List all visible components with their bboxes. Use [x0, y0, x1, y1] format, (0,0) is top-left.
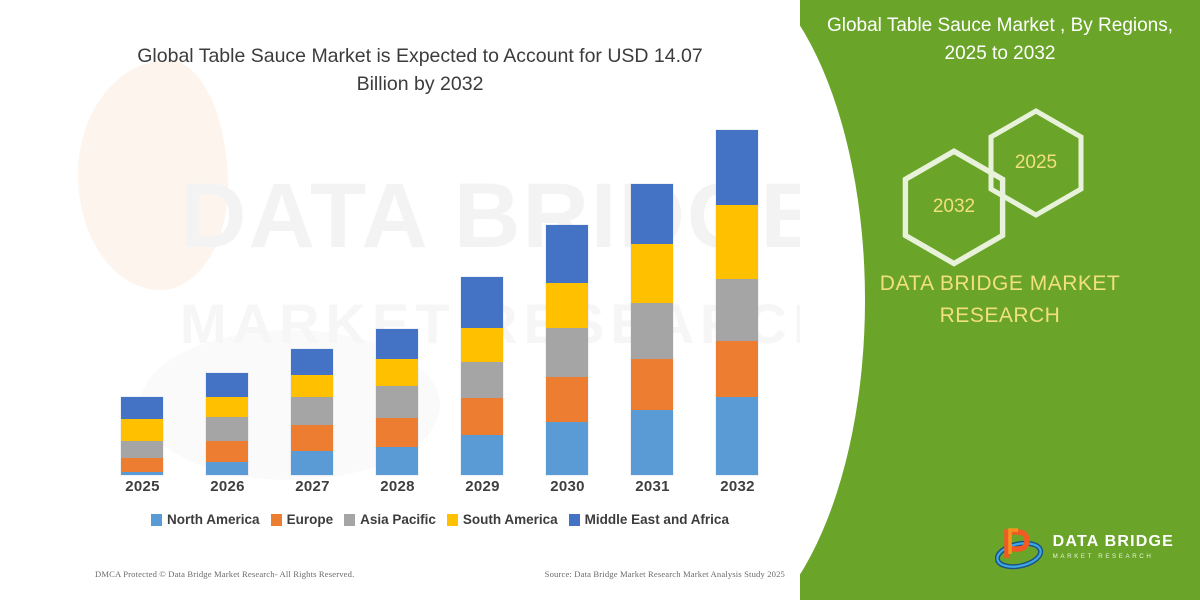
bar-segment[interactable]	[206, 397, 248, 416]
logo-subtitle: MARKET RESEARCH	[1053, 554, 1174, 560]
bar-segment[interactable]	[631, 359, 673, 411]
stacked-bar-2032[interactable]	[716, 130, 758, 475]
bar-segment[interactable]	[631, 184, 673, 244]
footer: DMCA Protected © Data Bridge Market Rese…	[95, 569, 785, 579]
stacked-bar-2025[interactable]	[121, 397, 163, 475]
bar-segment[interactable]	[121, 397, 163, 419]
legend-swatch-icon	[569, 514, 580, 526]
bar-segment[interactable]	[546, 283, 588, 328]
x-axis-tick-2032: 2032	[700, 478, 775, 495]
legend-swatch-icon	[151, 514, 162, 526]
x-axis-tick-2029: 2029	[445, 478, 520, 495]
bar-segment[interactable]	[716, 341, 758, 397]
bar-segment[interactable]	[121, 458, 163, 472]
stacked-bar-2027[interactable]	[291, 349, 333, 475]
bar-segment[interactable]	[716, 279, 758, 342]
legend-label: Europe	[287, 512, 334, 527]
hexagon-2025: 2025	[986, 108, 1086, 218]
legend-item[interactable]: North America	[151, 512, 260, 527]
x-axis-tick-2028: 2028	[360, 478, 435, 495]
bar-segment[interactable]	[546, 422, 588, 475]
bar-slot	[700, 130, 775, 475]
bar-segment[interactable]	[121, 419, 163, 441]
legend-swatch-icon	[344, 514, 355, 526]
logo-title: DATA BRIDGE	[1053, 534, 1174, 550]
bar-slot	[445, 130, 520, 475]
hexagon-2032-label: 2032	[933, 196, 975, 218]
hexagon-2025-label: 2025	[1015, 152, 1057, 174]
legend-item[interactable]: Middle East and Africa	[569, 512, 729, 527]
panel-brand-text: DATA BRIDGE MARKET RESEARCH	[820, 268, 1180, 331]
bar-segment[interactable]	[461, 398, 503, 435]
x-axis-tick-2026: 2026	[190, 478, 265, 495]
bar-segment[interactable]	[206, 462, 248, 475]
bar-segment[interactable]	[631, 410, 673, 475]
data-bridge-logo-icon	[995, 524, 1045, 570]
bar-segment[interactable]	[461, 362, 503, 399]
bar-slot	[615, 130, 690, 475]
logo-text: DATA BRIDGE MARKET RESEARCH	[1053, 534, 1174, 560]
bar-segment[interactable]	[461, 435, 503, 475]
bar-segment[interactable]	[631, 244, 673, 302]
legend-swatch-icon	[447, 514, 458, 526]
stacked-bar-2028[interactable]	[376, 329, 418, 475]
bar-segment[interactable]	[376, 329, 418, 358]
bar-segment[interactable]	[461, 328, 503, 361]
bar-slot	[530, 130, 605, 475]
x-axis-tick-2030: 2030	[530, 478, 605, 495]
bar-slot	[190, 130, 265, 475]
stacked-bar-2030[interactable]	[546, 225, 588, 475]
bar-segment[interactable]	[376, 359, 418, 386]
legend-label: South America	[463, 512, 558, 527]
footer-copyright: DMCA Protected © Data Bridge Market Rese…	[95, 569, 354, 579]
hexagon-group: 2032 2025	[900, 120, 1130, 250]
bar-slot	[360, 130, 435, 475]
stacked-bar-2031[interactable]	[631, 184, 673, 475]
panel-title: Global Table Sauce Market , By Regions, …	[820, 12, 1180, 67]
legend-label: Asia Pacific	[360, 512, 436, 527]
legend-item[interactable]: South America	[447, 512, 558, 527]
bar-segment[interactable]	[376, 418, 418, 447]
bar-segment[interactable]	[716, 397, 758, 475]
legend-swatch-icon	[271, 514, 282, 526]
bar-segment[interactable]	[121, 472, 163, 475]
bar-segment[interactable]	[291, 451, 333, 475]
bar-segment[interactable]	[121, 441, 163, 458]
legend-item[interactable]: Europe	[271, 512, 334, 527]
bar-segment[interactable]	[291, 397, 333, 425]
bar-segment[interactable]	[206, 441, 248, 463]
chart-legend: North AmericaEuropeAsia PacificSouth Ame…	[100, 512, 780, 527]
bar-segment[interactable]	[716, 130, 758, 205]
bar-segment[interactable]	[546, 328, 588, 377]
legend-item[interactable]: Asia Pacific	[344, 512, 436, 527]
page-title: Global Table Sauce Market is Expected to…	[110, 42, 730, 99]
bar-slot	[275, 130, 350, 475]
x-axis-tick-2025: 2025	[105, 478, 180, 495]
x-axis-tick-2031: 2031	[615, 478, 690, 495]
stacked-bar-2029[interactable]	[461, 277, 503, 475]
stacked-bar-chart	[100, 130, 780, 475]
bar-segment[interactable]	[546, 225, 588, 283]
legend-label: Middle East and Africa	[585, 512, 729, 527]
bar-segment[interactable]	[461, 277, 503, 329]
bar-segment[interactable]	[376, 447, 418, 475]
legend-label: North America	[167, 512, 260, 527]
bar-segment[interactable]	[376, 386, 418, 418]
chart-x-axis: 20252026202720282029203020312032	[100, 478, 780, 495]
chart-plot-area	[100, 130, 780, 475]
stacked-bar-2026[interactable]	[206, 373, 248, 475]
bar-slot	[105, 130, 180, 475]
brand-logo: DATA BRIDGE MARKET RESEARCH	[995, 524, 1174, 570]
bar-segment[interactable]	[631, 303, 673, 359]
x-axis-tick-2027: 2027	[275, 478, 350, 495]
bar-segment[interactable]	[716, 205, 758, 278]
bar-segment[interactable]	[291, 349, 333, 375]
bar-segment[interactable]	[291, 375, 333, 398]
green-side-panel: Global Table Sauce Market , By Regions, …	[800, 0, 1200, 600]
bar-segment[interactable]	[206, 373, 248, 398]
bar-segment[interactable]	[291, 425, 333, 451]
bar-segment[interactable]	[546, 377, 588, 422]
footer-source: Source: Data Bridge Market Research Mark…	[545, 569, 785, 579]
bar-segment[interactable]	[206, 417, 248, 441]
